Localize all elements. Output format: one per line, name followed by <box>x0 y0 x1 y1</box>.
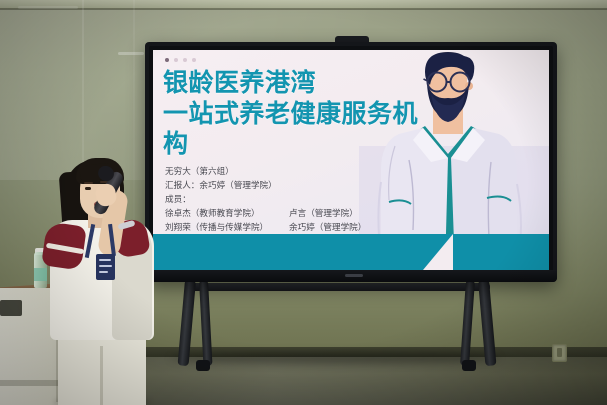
wall-outlet-icon <box>552 344 567 362</box>
tv-brand-logo <box>345 274 363 277</box>
dot-3-icon <box>183 58 187 62</box>
dot-1-icon <box>165 58 169 62</box>
wall-highlight-b <box>18 6 78 9</box>
slide-bottom-band <box>153 234 549 270</box>
presentation-slide: 银龄医养港湾 一站式养老健康服务机构 无穷大（第六组） 汇报人：余巧婷（管理学院… <box>153 50 549 270</box>
stand-floor-shadow <box>170 352 500 364</box>
member-left: 徐卓杰（教师教育学院） <box>165 208 289 222</box>
dot-2-icon <box>174 58 178 62</box>
equipment-box <box>0 300 22 316</box>
slide-title-line-1: 银龄医养港湾 <box>163 68 316 97</box>
ceiling-edge-line <box>0 8 607 10</box>
member-right: 卢言（管理学院） <box>289 208 358 222</box>
slide-decorative-dots <box>165 58 196 62</box>
wall-highlight-a <box>118 52 144 55</box>
name-badge <box>96 254 115 280</box>
stand-crossbar <box>190 283 490 291</box>
stand-caster-left <box>196 360 210 371</box>
presentation-room-photo: 银龄医养港湾 一站式养老健康服务机构 无穷大（第六组） 汇报人：余巧婷（管理学院… <box>0 0 607 405</box>
slide-band-notch <box>423 234 453 270</box>
stand-caster-right <box>462 360 476 371</box>
presenter-brow-left <box>84 182 93 184</box>
badge-line-3 <box>99 271 108 273</box>
badge-line-1 <box>99 259 111 261</box>
presenter <box>36 150 166 405</box>
dot-4-icon <box>192 58 196 62</box>
presenter-pants-seam <box>100 346 103 405</box>
tv-screen[interactable]: 银龄医养港湾 一站式养老健康服务机构 无穷大（第六组） 汇报人：余巧婷（管理学院… <box>153 50 549 270</box>
presenter-eye-left <box>85 187 91 190</box>
badge-line-2 <box>99 265 112 267</box>
